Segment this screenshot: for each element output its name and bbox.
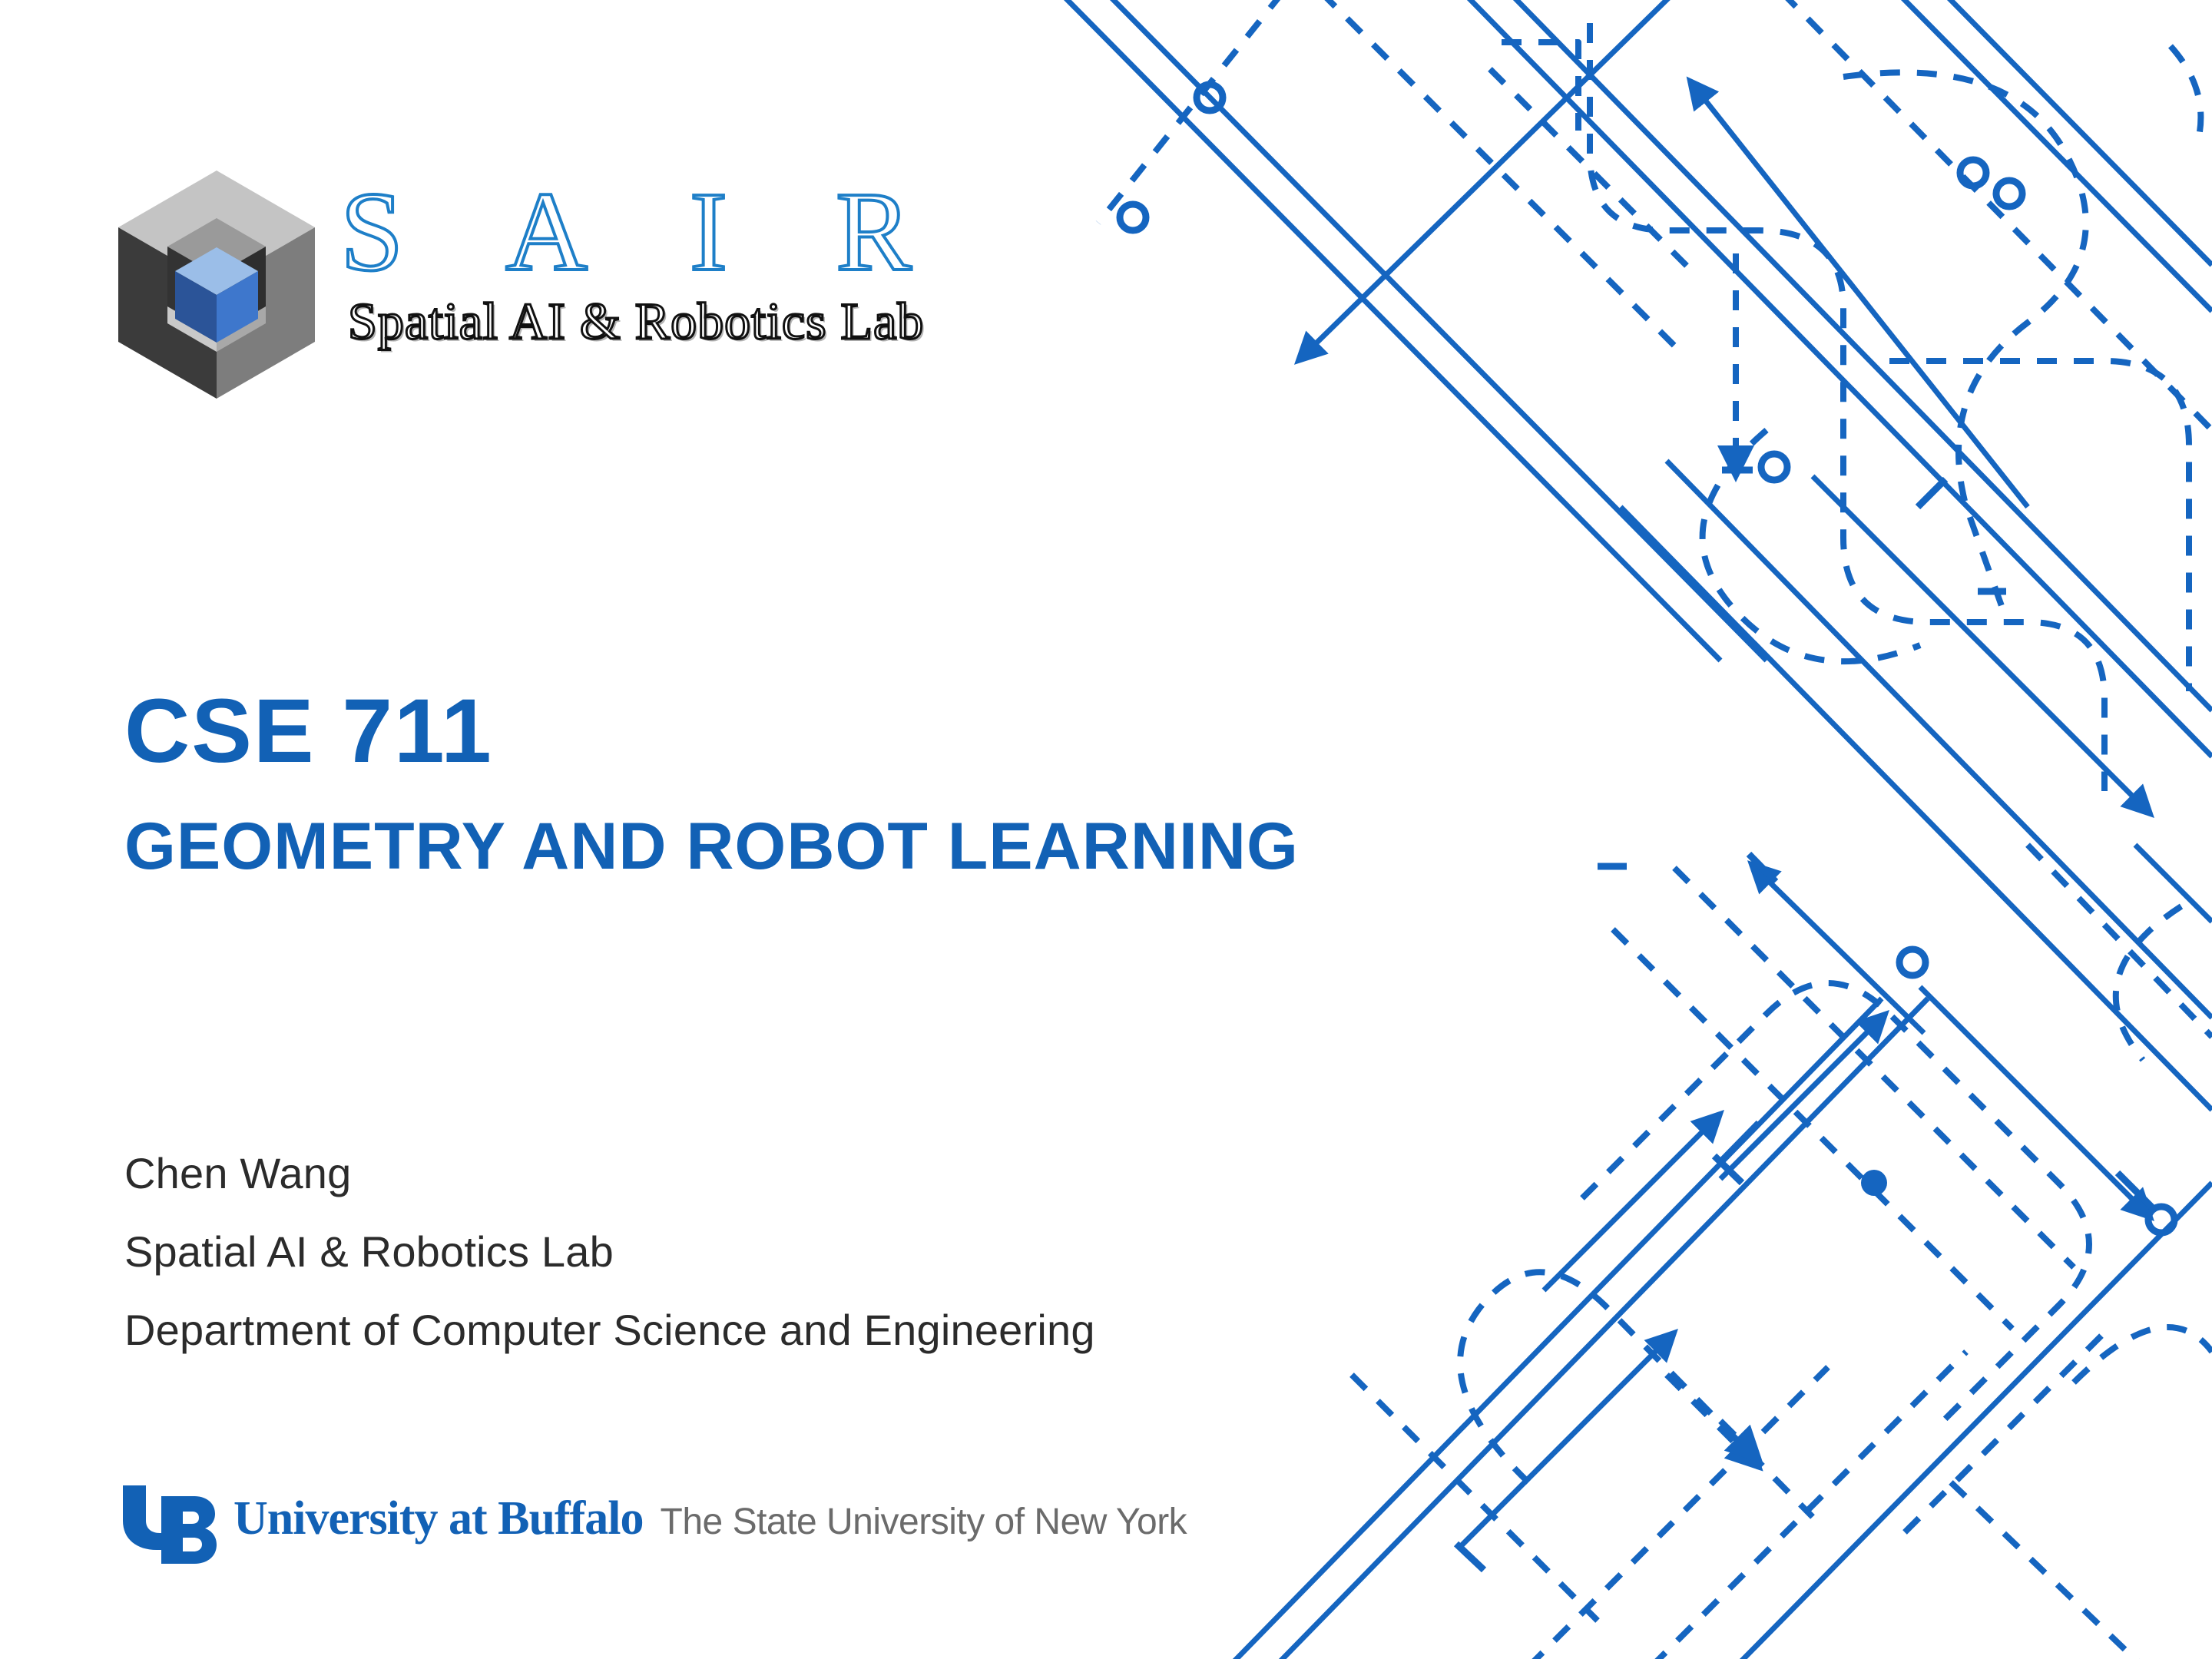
university-tagline: The State University of New York (661, 1501, 1187, 1543)
title-block: CSE 711 GEOMETRY AND ROBOT LEARNING (124, 684, 1814, 883)
course-code: CSE 711 (124, 684, 1814, 780)
course-name: GEOMETRY AND ROBOT LEARNING (124, 810, 1814, 883)
slide-canvas: S A I R Spatial AI & Robotics Lab CSE 71… (0, 0, 2212, 1659)
sair-tagline: Spatial AI & Robotics Lab (334, 295, 872, 347)
ub-monogram-icon (121, 1482, 223, 1575)
ub-text-group: University at Buffalo The State Universi… (233, 1482, 1187, 1546)
university-name: University at Buffalo (233, 1492, 644, 1546)
author-lab: Spatial AI & Robotics Lab (124, 1230, 1507, 1273)
author-name: Chen Wang (124, 1152, 1507, 1195)
sair-wordmark-group: S A I R Spatial AI & Robotics Lab (334, 175, 872, 347)
sair-logo: S A I R Spatial AI & Robotics Lab (115, 167, 883, 406)
author-block: Chen Wang Spatial AI & Robotics Lab Depa… (124, 1152, 1507, 1352)
sair-wordmark: S A I R (334, 175, 872, 289)
author-department: Department of Computer Science and Engin… (124, 1309, 1507, 1352)
sair-cube-icon (115, 167, 319, 402)
ub-footer: University at Buffalo The State Universi… (121, 1482, 1187, 1582)
